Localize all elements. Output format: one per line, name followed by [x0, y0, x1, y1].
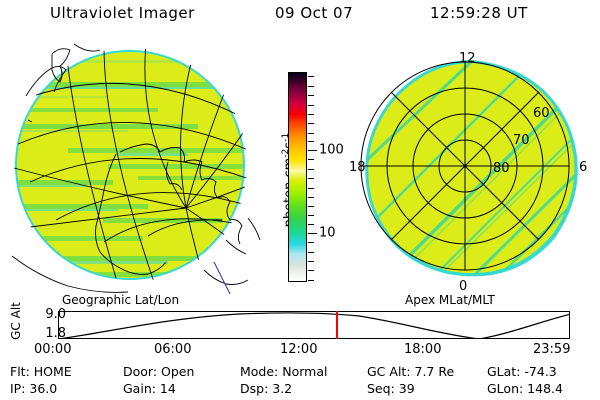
geographic-image-panel[interactable] [8, 40, 266, 295]
colorbar-minor-tick [308, 224, 314, 225]
observation-date: 09 Oct 07 [275, 4, 353, 22]
header-bar: Ultraviolet Imager 09 Oct 07 12:59:28 UT [0, 4, 600, 28]
mlt-label-18: 18 [349, 160, 366, 175]
colorbar-panel: photon cm-2s-1 10010 [262, 62, 342, 297]
mlat-label-60: 60 [533, 106, 550, 121]
colorbar-minor-tick [308, 159, 314, 160]
colorbar-minor-tick [308, 114, 314, 115]
colorbar-minor-tick [308, 252, 314, 253]
colorbar-minor-tick [308, 133, 314, 134]
mlt-label-12: 12 [459, 51, 476, 66]
colorbar-gradient [288, 72, 307, 282]
colorbar-tick-label: 100 [319, 143, 344, 156]
colorbar-minor-tick [308, 261, 314, 262]
colorbar-minor-tick [308, 280, 314, 281]
orbit-xtick-label: 23:59 [533, 342, 570, 357]
current-time-marker [336, 311, 338, 339]
colorbar-minor-tick [308, 141, 314, 142]
colorbar-minor-tick [308, 215, 314, 216]
polar-aurora-region [345, 40, 595, 295]
colorbar-minor-tick [308, 270, 314, 271]
mlt-label-6: 6 [579, 160, 587, 175]
status-field-4: Gain: 14 [123, 381, 176, 396]
colorbar-minor-tick [308, 178, 314, 179]
status-field-5: Mode: Normal [240, 364, 327, 379]
orbit-altitude-panel[interactable]: GC Alt 9.0 1.8 00:0006:0012:0018:0023:59 [0, 300, 600, 358]
colorbar-minor-tick [308, 86, 314, 87]
polar-plot-svg: 12 18 6 0 60 70 80 [345, 40, 595, 295]
colorbar-minor-tick [308, 197, 314, 198]
status-bar: Flt: HOMEIP: 36.0Door: OpenGain: 14Mode:… [0, 362, 600, 400]
colorbar-major-tick [308, 233, 317, 234]
mlat-label-80: 80 [493, 161, 510, 176]
colorbar-minor-tick [308, 242, 314, 243]
colorbar-tick-label: 10 [319, 226, 336, 239]
colorbar-minor-tick [308, 206, 314, 207]
orbit-y-axis-label: GC Alt [9, 293, 23, 349]
orbit-xtick-label: 06:00 [154, 342, 191, 357]
status-field-7: GC Alt: 7.7 Re [367, 364, 454, 379]
colorbar-major-tick [308, 150, 317, 151]
colorbar-minor-tick [308, 95, 314, 96]
orbit-altitude-curve [59, 313, 570, 339]
mlat-label-70: 70 [513, 133, 530, 148]
status-field-8: Seq: 39 [367, 381, 415, 396]
status-field-9: GLat: -74.3 [487, 364, 557, 379]
observation-time: 12:59:28 UT [430, 4, 528, 22]
polar-image-panel[interactable]: 12 18 6 0 60 70 80 [345, 40, 595, 295]
colorbar-minor-tick [308, 169, 314, 170]
orbit-xtick-label: 18:00 [404, 342, 441, 357]
colorbar-minor-tick [308, 105, 314, 106]
colorbar-minor-tick [308, 188, 314, 189]
geographic-globe-svg [8, 40, 266, 295]
status-field-6: Dsp: 3.2 [240, 381, 292, 396]
status-field-1: Flt: HOME [10, 364, 72, 379]
orbit-track-line [214, 262, 230, 294]
colorbar-minor-tick [308, 76, 314, 77]
status-field-3: Door: Open [123, 364, 194, 379]
status-field-10: GLon: 148.4 [487, 381, 563, 396]
polar-grid [361, 62, 569, 270]
mlt-label-0: 0 [459, 279, 467, 294]
orbit-xtick-label: 12:00 [280, 342, 317, 357]
page-title: Ultraviolet Imager [50, 4, 195, 22]
status-field-2: IP: 36.0 [10, 381, 57, 396]
colorbar-minor-tick [308, 123, 314, 124]
orbit-plot-box[interactable] [58, 311, 570, 339]
orbit-trace-svg [59, 312, 570, 339]
orbit-xtick-label: 00:00 [34, 342, 71, 357]
